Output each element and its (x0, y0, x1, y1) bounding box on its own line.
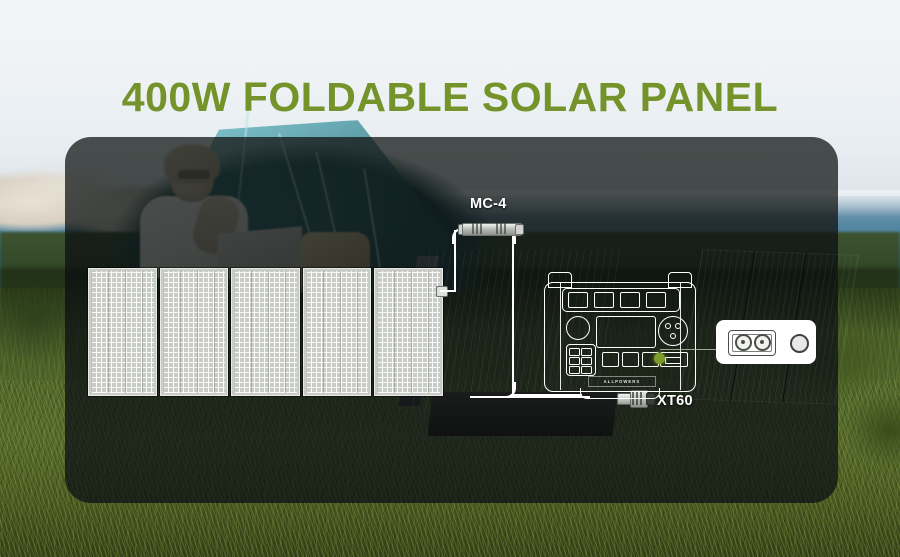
solar-panel-section (88, 268, 157, 396)
portable-power-station: ALLPOWERS (534, 268, 706, 398)
ac-outlet (646, 292, 666, 308)
product-diagram: MC-4 XT60 (0, 0, 900, 557)
active-port-indicator (654, 353, 665, 364)
solar-panel-section (374, 268, 443, 396)
cable-right-vertical (512, 230, 515, 396)
aux-port (790, 334, 809, 353)
foldable-solar-panel-array (88, 268, 443, 396)
ac-socket-round (658, 316, 688, 346)
solar-panel-section (303, 268, 372, 396)
product-banner: 400W FOLDABLE SOLAR PANEL (0, 0, 900, 557)
mc4-label: MC-4 (470, 196, 507, 212)
ac-outlet (594, 292, 614, 308)
dc-output-port (622, 352, 639, 367)
junction-port (754, 334, 771, 351)
station-foot (580, 388, 660, 399)
solar-panel-junction-box (716, 320, 816, 364)
junction-port (735, 334, 752, 351)
control-knob (566, 316, 590, 340)
lcd-display (596, 316, 656, 348)
dc-output-port (602, 352, 619, 367)
brand-logo: ALLPOWERS (588, 376, 656, 387)
solar-panel-section (160, 268, 229, 396)
ac-outlet (568, 292, 588, 308)
cable-panel-to-mc4 (440, 290, 456, 293)
ac-outlet (620, 292, 640, 308)
solar-panel-section (231, 268, 300, 396)
callout-leader-line (660, 349, 716, 350)
mc4-connector-icon (462, 221, 520, 236)
